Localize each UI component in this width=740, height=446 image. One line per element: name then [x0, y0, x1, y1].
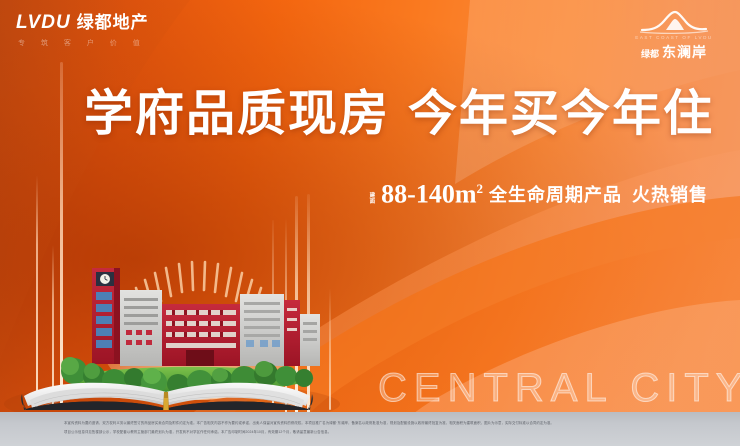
- brand-tagline: 专 筑 客 户 价 值: [16, 38, 149, 48]
- project-brand-prefix: 绿都: [641, 47, 659, 60]
- area-prefix-char-2: 面: [370, 199, 376, 205]
- brand-logo-left[interactable]: LVDU 绿都地产 专 筑 客 户 价 值: [16, 12, 149, 48]
- campus-buildings: [92, 268, 320, 366]
- project-logo-right[interactable]: EAST COAST OF LVDU 绿都 东澜岸: [622, 8, 726, 62]
- project-name-text: 东澜岸: [662, 42, 707, 62]
- mountain-wave-icon: [622, 8, 726, 34]
- brand-wordmark-latin: LVDU: [16, 12, 71, 34]
- area-range-text: 88-140m: [381, 180, 476, 209]
- headline-part-1: 学府品质现房: [84, 86, 390, 141]
- area-superscript: 2: [477, 181, 484, 196]
- disclaimer-line-1: 本宣传资料为要约邀请，双方权利义务以最终签订的商品房买卖合同及附件约定为准。本广…: [64, 421, 676, 426]
- headline: 学府品质现房今年买今年住: [84, 86, 724, 142]
- status-text: 火热销售: [632, 185, 708, 205]
- advertisement-poster: LVDU 绿都地产 专 筑 客 户 价 值 EAST COAST OF LVDU…: [0, 0, 740, 446]
- product-and-status: 全生命周期产品火热销售: [489, 183, 708, 208]
- headline-part-2: 今年买今年住: [408, 86, 714, 141]
- brand-wordmark: LVDU 绿都地产: [16, 12, 149, 34]
- project-logo-name: 绿都 东澜岸: [622, 42, 726, 62]
- project-logo-en: EAST COAST OF LVDU: [622, 35, 726, 40]
- area-prefix-label: 建 面: [370, 193, 376, 208]
- brand-wordmark-cn: 绿都地产: [77, 12, 149, 34]
- watermark-central-city: CENTRAL CITY: [378, 366, 740, 411]
- illustration-open-book-campus: [14, 228, 334, 410]
- subline: 建 面 88-140m2 全生命周期产品火热销售: [370, 176, 708, 208]
- area-range-value: 88-140m2: [381, 176, 483, 208]
- footer-disclaimer-bar: 本宣传资料为要约邀请，双方权利义务以最终签订的商品房买卖合同及附件约定为准。本广…: [0, 412, 740, 446]
- disclaimer-line-2: 项目公示信息详见售楼部公示，学校配套以教育主管部门最终划片为准，开发商不对学区作…: [64, 430, 676, 435]
- product-text: 全生命周期产品: [489, 185, 622, 205]
